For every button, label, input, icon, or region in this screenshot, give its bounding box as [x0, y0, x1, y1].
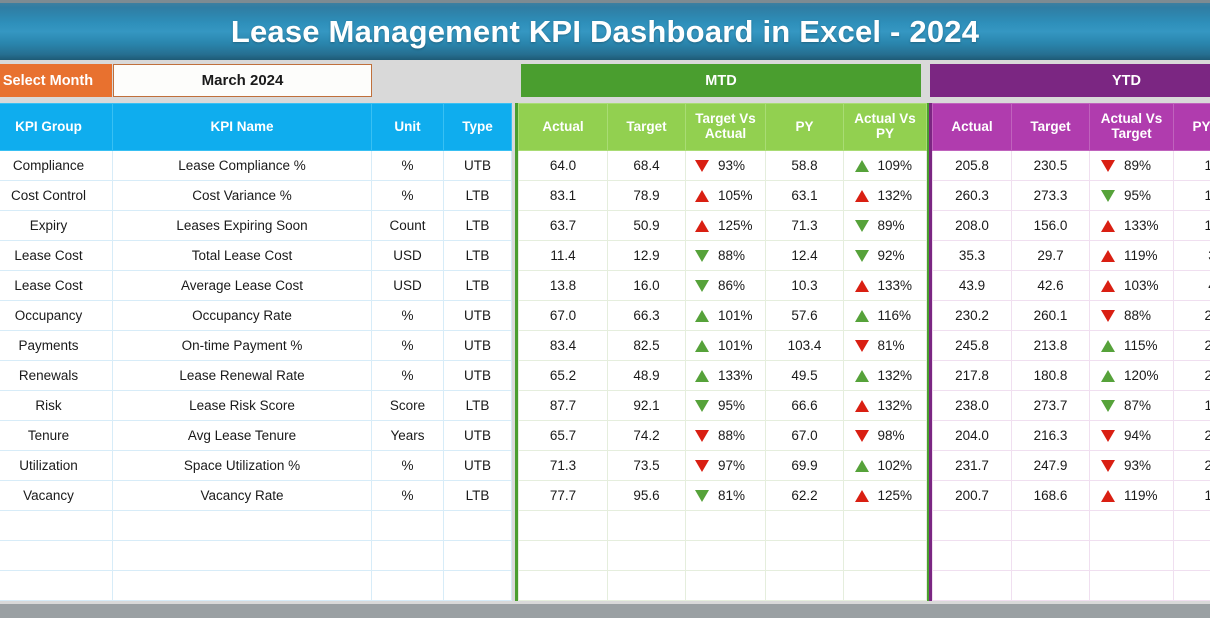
- cell-kpi-name: Average Lease Cost: [113, 271, 372, 301]
- cell-mtd-target-vs-actual: 88%: [686, 421, 766, 451]
- table-row[interactable]: [0, 511, 512, 541]
- cell-mtd-actual: 77.7: [519, 481, 608, 511]
- cell-ytd-actual-vs-target: 119%: [1090, 241, 1174, 271]
- cell-ytd-py: 237: [1174, 361, 1210, 391]
- table-header-row: Actual Target Target Vs Actual PY Actual…: [519, 104, 927, 151]
- cell-mtd-target-vs-actual: 101%: [686, 301, 766, 331]
- cell-ytd-actual-vs-target: 119%: [1090, 481, 1174, 511]
- cell-unit: %: [372, 331, 444, 361]
- table-row[interactable]: [933, 541, 1210, 571]
- cell-mtd-actual: 13.8: [519, 271, 608, 301]
- cell-empty: [686, 541, 766, 571]
- cell-empty: [686, 511, 766, 541]
- delta-percent: 119%: [1124, 488, 1162, 503]
- arrow-up-icon: [1101, 250, 1115, 262]
- cell-ytd-actual: 217.8: [933, 361, 1012, 391]
- kpi-info-table: KPI Group KPI Name Unit Type ComplianceL…: [0, 103, 512, 601]
- cell-ytd-actual-vs-target: 94%: [1090, 421, 1174, 451]
- cell-mtd-actual: 71.3: [519, 451, 608, 481]
- cell-ytd-target: 273.3: [1012, 181, 1090, 211]
- cell-mtd-actual: 83.1: [519, 181, 608, 211]
- table-row[interactable]: 200.7168.6119%152: [933, 481, 1210, 511]
- cell-kpi-group: Tenure: [0, 421, 113, 451]
- dashboard-title-bar: Lease Management KPI Dashboard in Excel …: [0, 0, 1210, 60]
- delta-percent: 88%: [1124, 308, 1162, 323]
- table-row[interactable]: 87.792.195%66.6132%: [519, 391, 927, 421]
- table-row[interactable]: 77.795.681%62.2125%: [519, 481, 927, 511]
- cell-type: LTB: [444, 271, 512, 301]
- arrow-up-icon: [855, 190, 869, 202]
- cell-mtd-actual-vs-py: 133%: [844, 271, 927, 301]
- cell-ytd-actual: 204.0: [933, 421, 1012, 451]
- cell-mtd-actual-vs-py: 132%: [844, 391, 927, 421]
- col-kpi-name[interactable]: KPI Name: [113, 104, 372, 151]
- col-mtd-target-vs-actual[interactable]: Target Vs Actual: [686, 104, 766, 151]
- cell-kpi-group: Utilization: [0, 451, 113, 481]
- dashboard-page: Lease Management KPI Dashboard in Excel …: [0, 0, 1210, 618]
- cell-empty: [372, 541, 444, 571]
- delta-percent: 125%: [718, 218, 756, 233]
- cell-mtd-target-vs-actual: 88%: [686, 241, 766, 271]
- arrow-up-icon: [1101, 490, 1115, 502]
- cell-ytd-actual-vs-target: 133%: [1090, 211, 1174, 241]
- cell-mtd-actual-vs-py: 92%: [844, 241, 927, 271]
- cell-mtd-target-vs-actual: 101%: [686, 331, 766, 361]
- table-row[interactable]: RiskLease Risk ScoreScoreLTB: [0, 391, 512, 421]
- cell-mtd-target: 50.9: [608, 211, 686, 241]
- cell-unit: %: [372, 361, 444, 391]
- delta-percent: 101%: [718, 338, 756, 353]
- table-row[interactable]: 65.248.9133%49.5132%: [519, 361, 927, 391]
- table-row[interactable]: 13.816.086%10.3133%: [519, 271, 927, 301]
- cell-empty: [844, 541, 927, 571]
- cell-empty: [0, 511, 113, 541]
- cell-mtd-py: 12.4: [766, 241, 844, 271]
- cell-mtd-target-vs-actual: 81%: [686, 481, 766, 511]
- table-row[interactable]: 63.750.9125%71.389%: [519, 211, 927, 241]
- arrow-down-icon: [1101, 400, 1115, 412]
- cell-type: LTB: [444, 241, 512, 271]
- cell-ytd-actual: 43.9: [933, 271, 1012, 301]
- table-row[interactable]: 67.066.3101%57.6116%: [519, 301, 927, 331]
- arrow-up-icon: [1101, 220, 1115, 232]
- cell-ytd-py: 222: [1174, 421, 1210, 451]
- cell-ytd-py: 152: [1174, 481, 1210, 511]
- cell-mtd-actual-vs-py: 81%: [844, 331, 927, 361]
- cell-type: UTB: [444, 421, 512, 451]
- delta-percent: 88%: [718, 248, 756, 263]
- cell-mtd-py: 10.3: [766, 271, 844, 301]
- cell-kpi-group: Compliance: [0, 151, 113, 181]
- cell-ytd-target: 213.8: [1012, 331, 1090, 361]
- cell-unit: %: [372, 151, 444, 181]
- delta-percent: 125%: [878, 488, 916, 503]
- cell-mtd-py: 103.4: [766, 331, 844, 361]
- cell-type: UTB: [444, 331, 512, 361]
- arrow-down-icon: [1101, 160, 1115, 172]
- arrow-up-icon: [695, 340, 709, 352]
- cell-mtd-py: 63.1: [766, 181, 844, 211]
- cell-empty: [844, 571, 927, 601]
- cell-type: LTB: [444, 481, 512, 511]
- arrow-down-icon: [695, 280, 709, 292]
- cell-type: UTB: [444, 361, 512, 391]
- cell-mtd-actual: 65.2: [519, 361, 608, 391]
- cell-mtd-py: 58.8: [766, 151, 844, 181]
- cell-mtd-actual: 11.4: [519, 241, 608, 271]
- cell-type: LTB: [444, 391, 512, 421]
- cell-mtd-target-vs-actual: 95%: [686, 391, 766, 421]
- cell-ytd-actual-vs-target: 95%: [1090, 181, 1174, 211]
- cell-kpi-group: Lease Cost: [0, 271, 113, 301]
- table-row[interactable]: ExpiryLeases Expiring SoonCountLTB: [0, 211, 512, 241]
- cell-mtd-target-vs-actual: 93%: [686, 151, 766, 181]
- cell-ytd-actual-vs-target: 120%: [1090, 361, 1174, 391]
- cell-mtd-actual: 67.0: [519, 301, 608, 331]
- arrow-up-icon: [855, 280, 869, 292]
- table-row[interactable]: 217.8180.8120%237: [933, 361, 1210, 391]
- cell-kpi-group: Renewals: [0, 361, 113, 391]
- cell-mtd-py: 57.6: [766, 301, 844, 331]
- cell-mtd-target: 68.4: [608, 151, 686, 181]
- cell-ytd-py: 258: [1174, 331, 1210, 361]
- table-row[interactable]: Lease CostAverage Lease CostUSDLTB: [0, 271, 512, 301]
- delta-percent: 88%: [718, 428, 756, 443]
- arrow-down-icon: [695, 460, 709, 472]
- col-mtd-target[interactable]: Target: [608, 104, 686, 151]
- cell-ytd-actual: 260.3: [933, 181, 1012, 211]
- cell-mtd-py: 71.3: [766, 211, 844, 241]
- delta-percent: 93%: [1124, 458, 1162, 473]
- cell-kpi-group: Expiry: [0, 211, 113, 241]
- arrow-up-icon: [1101, 370, 1115, 382]
- delta-percent: 87%: [1124, 398, 1162, 413]
- col-ytd-actual-vs-target[interactable]: Actual Vs Target: [1090, 104, 1174, 151]
- page-title: Lease Management KPI Dashboard in Excel …: [231, 14, 979, 50]
- cell-empty: [519, 541, 608, 571]
- cell-mtd-actual: 65.7: [519, 421, 608, 451]
- col-mtd-py[interactable]: PY: [766, 104, 844, 151]
- table-row[interactable]: ComplianceLease Compliance %%UTB: [0, 151, 512, 181]
- cell-unit: %: [372, 301, 444, 331]
- cell-ytd-py: 197: [1174, 181, 1210, 211]
- table-row[interactable]: [519, 571, 927, 601]
- cell-ytd-actual-vs-target: 115%: [1090, 331, 1174, 361]
- table-row[interactable]: 83.482.5101%103.481%: [519, 331, 927, 361]
- cell-ytd-actual: 200.7: [933, 481, 1012, 511]
- cell-ytd-target: 216.3: [1012, 421, 1090, 451]
- table-row[interactable]: UtilizationSpace Utilization %%UTB: [0, 451, 512, 481]
- cell-ytd-target: 42.6: [1012, 271, 1090, 301]
- table-row[interactable]: 230.2260.188%237: [933, 301, 1210, 331]
- cell-mtd-actual-vs-py: 109%: [844, 151, 927, 181]
- delta-percent: 95%: [1124, 188, 1162, 203]
- cell-mtd-target: 12.9: [608, 241, 686, 271]
- delta-percent: 89%: [1124, 158, 1162, 173]
- cell-unit: Count: [372, 211, 444, 241]
- delta-percent: 120%: [1124, 368, 1162, 383]
- table-row[interactable]: 231.7247.993%261: [933, 451, 1210, 481]
- cell-empty: [1090, 571, 1174, 601]
- table-row[interactable]: 43.942.6103%45.: [933, 271, 1210, 301]
- cell-mtd-actual: 87.7: [519, 391, 608, 421]
- cell-empty: [1012, 511, 1090, 541]
- kpi-info-body: ComplianceLease Compliance %%UTBCost Con…: [0, 151, 512, 601]
- delta-percent: 133%: [718, 368, 756, 383]
- col-ytd-py[interactable]: PY: [1174, 104, 1210, 151]
- cell-type: UTB: [444, 301, 512, 331]
- cell-ytd-actual: 205.8: [933, 151, 1012, 181]
- cell-mtd-actual: 64.0: [519, 151, 608, 181]
- delta-percent: 101%: [718, 308, 756, 323]
- table-row[interactable]: 208.0156.0133%181: [933, 211, 1210, 241]
- arrow-down-icon: [695, 250, 709, 262]
- table-row[interactable]: 205.8230.589%168: [933, 151, 1210, 181]
- cell-kpi-name: Lease Renewal Rate: [113, 361, 372, 391]
- cell-mtd-actual-vs-py: 132%: [844, 181, 927, 211]
- ytd-body: 205.8230.589%168260.3273.395%197208.0156…: [933, 151, 1210, 601]
- table-row[interactable]: 83.178.9105%63.1132%: [519, 181, 927, 211]
- cell-empty: [766, 571, 844, 601]
- delta-percent: 133%: [878, 278, 916, 293]
- arrow-up-icon: [855, 310, 869, 322]
- delta-percent: 97%: [718, 458, 756, 473]
- cell-mtd-actual-vs-py: 98%: [844, 421, 927, 451]
- cell-empty: [608, 511, 686, 541]
- cell-ytd-actual-vs-target: 87%: [1090, 391, 1174, 421]
- select-month-dropdown[interactable]: March 2024: [113, 64, 372, 97]
- arrow-up-icon: [1101, 340, 1115, 352]
- arrow-down-icon: [855, 340, 869, 352]
- controls-strip: Select Month March 2024 MTD YTD: [0, 60, 1210, 103]
- cell-mtd-target-vs-actual: 133%: [686, 361, 766, 391]
- cell-mtd-py: 62.2: [766, 481, 844, 511]
- col-mtd-actual-vs-py[interactable]: Actual Vs PY: [844, 104, 927, 151]
- kpi-grid: KPI Group KPI Name Unit Type ComplianceL…: [0, 103, 1210, 603]
- cell-empty: [0, 571, 113, 601]
- cell-empty: [372, 571, 444, 601]
- table-row[interactable]: [0, 571, 512, 601]
- cell-kpi-name: On-time Payment %: [113, 331, 372, 361]
- table-row[interactable]: [933, 511, 1210, 541]
- arrow-up-icon: [695, 310, 709, 322]
- cell-unit: Score: [372, 391, 444, 421]
- col-ytd-actual[interactable]: Actual: [933, 104, 1012, 151]
- cell-empty: [766, 541, 844, 571]
- table-row[interactable]: Lease CostTotal Lease CostUSDLTB: [0, 241, 512, 271]
- arrow-up-icon: [1101, 280, 1115, 292]
- cell-mtd-target: 78.9: [608, 181, 686, 211]
- cell-mtd-actual-vs-py: 89%: [844, 211, 927, 241]
- cell-mtd-target: 82.5: [608, 331, 686, 361]
- cell-type: LTB: [444, 181, 512, 211]
- cell-unit: USD: [372, 241, 444, 271]
- cell-ytd-py: 183: [1174, 391, 1210, 421]
- cell-kpi-group: Lease Cost: [0, 241, 113, 271]
- cell-empty: [113, 511, 372, 541]
- col-kpi-group[interactable]: KPI Group: [0, 104, 113, 151]
- table-row[interactable]: [519, 541, 927, 571]
- cell-kpi-name: Total Lease Cost: [113, 241, 372, 271]
- cell-kpi-name: Avg Lease Tenure: [113, 421, 372, 451]
- arrow-up-icon: [855, 490, 869, 502]
- delta-percent: 132%: [878, 398, 916, 413]
- cell-mtd-target: 48.9: [608, 361, 686, 391]
- arrow-down-icon: [855, 250, 869, 262]
- delta-percent: 98%: [878, 428, 916, 443]
- cell-kpi-group: Payments: [0, 331, 113, 361]
- ytd-table: Actual Target Actual Vs Target PY 205.82…: [932, 103, 1210, 601]
- cell-empty: [608, 571, 686, 601]
- cell-empty: [0, 541, 113, 571]
- select-month-value: March 2024: [202, 72, 284, 89]
- cell-empty: [608, 541, 686, 571]
- cell-empty: [1090, 511, 1174, 541]
- cell-empty: [1174, 541, 1210, 571]
- cell-empty: [519, 571, 608, 601]
- cell-empty: [444, 541, 512, 571]
- table-row[interactable]: [519, 511, 927, 541]
- delta-percent: 81%: [718, 488, 756, 503]
- cell-mtd-target: 74.2: [608, 421, 686, 451]
- cell-empty: [519, 511, 608, 541]
- col-ytd-target[interactable]: Target: [1012, 104, 1090, 151]
- cell-mtd-py: 66.6: [766, 391, 844, 421]
- delta-percent: 133%: [1124, 218, 1162, 233]
- cell-unit: USD: [372, 271, 444, 301]
- delta-percent: 81%: [878, 338, 916, 353]
- cell-empty: [444, 511, 512, 541]
- cell-ytd-py: 237: [1174, 301, 1210, 331]
- cell-mtd-actual-vs-py: 102%: [844, 451, 927, 481]
- cell-mtd-actual-vs-py: 116%: [844, 301, 927, 331]
- table-row[interactable]: Cost ControlCost Variance %%LTB: [0, 181, 512, 211]
- cell-ytd-actual: 245.8: [933, 331, 1012, 361]
- table-row[interactable]: 71.373.597%69.9102%: [519, 451, 927, 481]
- delta-percent: 92%: [878, 248, 916, 263]
- arrow-up-icon: [855, 460, 869, 472]
- cell-type: UTB: [444, 151, 512, 181]
- cell-kpi-name: Cost Variance %: [113, 181, 372, 211]
- arrow-up-icon: [855, 160, 869, 172]
- cell-kpi-name: Vacancy Rate: [113, 481, 372, 511]
- table-row[interactable]: VacancyVacancy Rate%LTB: [0, 481, 512, 511]
- mtd-band-header: MTD: [521, 64, 921, 97]
- cell-ytd-actual: 208.0: [933, 211, 1012, 241]
- cell-kpi-group: Risk: [0, 391, 113, 421]
- cell-ytd-target: 273.7: [1012, 391, 1090, 421]
- delta-percent: 95%: [718, 398, 756, 413]
- table-row[interactable]: 245.8213.8115%258: [933, 331, 1210, 361]
- cell-mtd-actual: 83.4: [519, 331, 608, 361]
- cell-empty: [444, 571, 512, 601]
- cell-empty: [933, 541, 1012, 571]
- cell-empty: [1012, 541, 1090, 571]
- arrow-down-icon: [1101, 430, 1115, 442]
- table-row[interactable]: OccupancyOccupancy Rate%UTB: [0, 301, 512, 331]
- arrow-down-icon: [855, 430, 869, 442]
- table-row[interactable]: 238.0273.787%183: [933, 391, 1210, 421]
- mtd-block: Actual Target Target Vs Actual PY Actual…: [515, 103, 929, 601]
- table-row[interactable]: 260.3273.395%197: [933, 181, 1210, 211]
- delta-percent: 115%: [1124, 338, 1162, 353]
- cell-ytd-py: 168: [1174, 151, 1210, 181]
- arrow-down-icon: [1101, 310, 1115, 322]
- cell-empty: [1174, 571, 1210, 601]
- delta-percent: 102%: [878, 458, 916, 473]
- cell-kpi-group: Cost Control: [0, 181, 113, 211]
- col-unit[interactable]: Unit: [372, 104, 444, 151]
- table-row[interactable]: TenureAvg Lease TenureYearsUTB: [0, 421, 512, 451]
- cell-mtd-py: 67.0: [766, 421, 844, 451]
- cell-ytd-target: 156.0: [1012, 211, 1090, 241]
- table-row[interactable]: 64.068.493%58.8109%: [519, 151, 927, 181]
- arrow-down-icon: [855, 220, 869, 232]
- cell-ytd-target: 29.7: [1012, 241, 1090, 271]
- arrow-down-icon: [1101, 460, 1115, 472]
- cell-kpi-group: Occupancy: [0, 301, 113, 331]
- cell-mtd-actual: 63.7: [519, 211, 608, 241]
- cell-mtd-actual-vs-py: 125%: [844, 481, 927, 511]
- delta-percent: 119%: [1124, 248, 1162, 263]
- arrow-up-icon: [695, 190, 709, 202]
- arrow-up-icon: [695, 220, 709, 232]
- arrow-up-icon: [695, 370, 709, 382]
- table-row[interactable]: 11.412.988%12.492%: [519, 241, 927, 271]
- table-row[interactable]: [933, 571, 1210, 601]
- cell-ytd-target: 230.5: [1012, 151, 1090, 181]
- mtd-table: Actual Target Target Vs Actual PY Actual…: [518, 103, 927, 601]
- cell-unit: Years: [372, 421, 444, 451]
- cell-mtd-target-vs-actual: 105%: [686, 181, 766, 211]
- delta-percent: 86%: [718, 278, 756, 293]
- table-header-row: KPI Group KPI Name Unit Type: [0, 104, 512, 151]
- arrow-down-icon: [695, 430, 709, 442]
- table-row[interactable]: 204.0216.394%222: [933, 421, 1210, 451]
- delta-percent: 94%: [1124, 428, 1162, 443]
- table-row[interactable]: RenewalsLease Renewal Rate%UTB: [0, 361, 512, 391]
- cell-unit: %: [372, 481, 444, 511]
- cell-ytd-actual-vs-target: 93%: [1090, 451, 1174, 481]
- table-row[interactable]: PaymentsOn-time Payment %%UTB: [0, 331, 512, 361]
- ytd-band-header: YTD: [930, 64, 1210, 97]
- table-row[interactable]: 35.329.7119%34.: [933, 241, 1210, 271]
- cell-ytd-target: 180.8: [1012, 361, 1090, 391]
- col-type[interactable]: Type: [444, 104, 512, 151]
- cell-unit: %: [372, 451, 444, 481]
- select-month-label: Select Month: [0, 64, 112, 97]
- ytd-block: Actual Target Actual Vs Target PY 205.82…: [929, 103, 1210, 601]
- delta-percent: 93%: [718, 158, 756, 173]
- cell-ytd-actual-vs-target: 89%: [1090, 151, 1174, 181]
- arrow-down-icon: [695, 160, 709, 172]
- cell-ytd-actual: 231.7: [933, 451, 1012, 481]
- cell-ytd-actual: 230.2: [933, 301, 1012, 331]
- col-mtd-actual[interactable]: Actual: [519, 104, 608, 151]
- table-row[interactable]: [0, 541, 512, 571]
- cell-empty: [686, 571, 766, 601]
- table-row[interactable]: 65.774.288%67.098%: [519, 421, 927, 451]
- arrow-up-icon: [855, 370, 869, 382]
- arrow-down-icon: [1101, 190, 1115, 202]
- cell-mtd-target-vs-actual: 86%: [686, 271, 766, 301]
- kpi-info-block: KPI Group KPI Name Unit Type ComplianceL…: [0, 103, 511, 601]
- cell-empty: [113, 541, 372, 571]
- cell-ytd-target: 168.6: [1012, 481, 1090, 511]
- cell-empty: [1174, 511, 1210, 541]
- cell-kpi-name: Lease Risk Score: [113, 391, 372, 421]
- cell-mtd-actual-vs-py: 132%: [844, 361, 927, 391]
